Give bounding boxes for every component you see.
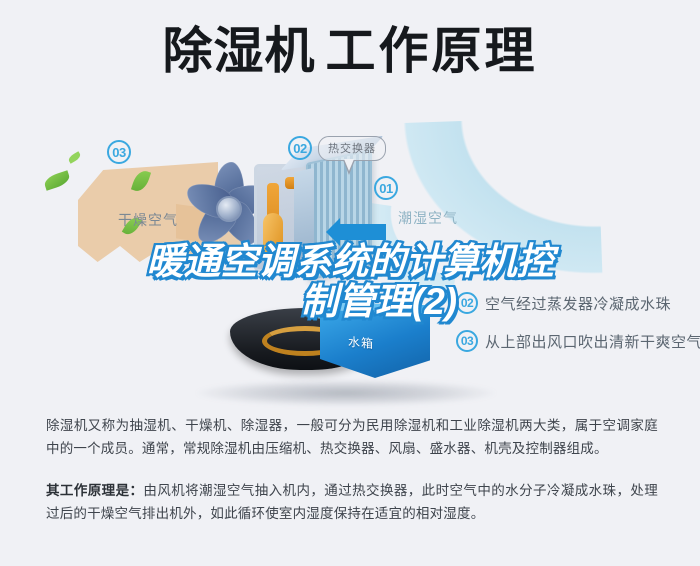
heat-exchanger-callout: 热交换器 (318, 136, 386, 161)
page-title-part2: 工作原理 (326, 23, 538, 79)
dehumidifier-illustration: ➞ ⬆ ⬇ 水箱 03 02 01 热交换器 干燥空气 潮湿空气 02 空气经过… (0, 112, 700, 402)
list-item: 03 从上部出风口吹出清新干爽空气 (456, 330, 700, 352)
dry-air-label: 干燥空气 (118, 210, 178, 230)
list-item: 02 空气经过蒸发器冷凝成水珠 (456, 292, 700, 314)
step-text: 空气经过蒸发器冷凝成水珠 (485, 293, 671, 314)
leaf-icon (43, 170, 72, 190)
fan-hub (216, 196, 242, 222)
heat-exchanger-fins-icon (306, 149, 372, 281)
page-title-part1: 除湿机 (163, 23, 316, 79)
water-tank-icon (320, 310, 430, 378)
heat-exchanger-side-face (294, 168, 314, 276)
page-title: 除湿机工作原理 (0, 26, 700, 76)
body-copy: 除湿机又称为抽湿机、干燥机、除湿器，一般可分为民用除湿机和工业除湿机两大类，属于… (46, 414, 658, 525)
moist-air-label: 潮湿空气 (398, 208, 458, 228)
step-badge: 02 (456, 292, 478, 314)
diagram-badge-03: 03 (107, 140, 131, 164)
paragraph-2-label: 其工作原理是： (46, 483, 143, 498)
paragraph-1-line-2: 通常，常规除湿机由压缩机、热交换器、风扇、盛水器、机壳及控制器组成。 (142, 441, 608, 456)
step-badge: 03 (456, 330, 478, 352)
water-tank-label: 水箱 (348, 333, 374, 352)
infographic-page: 除湿机工作原理 ➞ ⬆ (0, 0, 700, 566)
base-shadow (196, 380, 496, 406)
compressor-cylinder (263, 213, 283, 261)
air-inlet-arrow-icon (340, 224, 386, 240)
process-step-list: 02 空气经过蒸发器冷凝成水珠 03 从上部出风口吹出清新干爽空气 (456, 292, 700, 368)
step-text: 从上部出风口吹出清新干爽空气 (485, 331, 700, 352)
leaf-icon (67, 151, 82, 164)
diagram-badge-01: 01 (374, 176, 398, 200)
paragraph-1: 除湿机又称为抽湿机、干燥机、除湿器，一般可分为民用除湿机和工业除湿机两大类，属于… (46, 414, 658, 460)
paragraph-2: 其工作原理是：由风机将潮湿空气抽入机内，通过热交换器，此时空气中的水分子冷凝成水… (46, 479, 658, 525)
diagram-badge-02: 02 (288, 136, 312, 160)
